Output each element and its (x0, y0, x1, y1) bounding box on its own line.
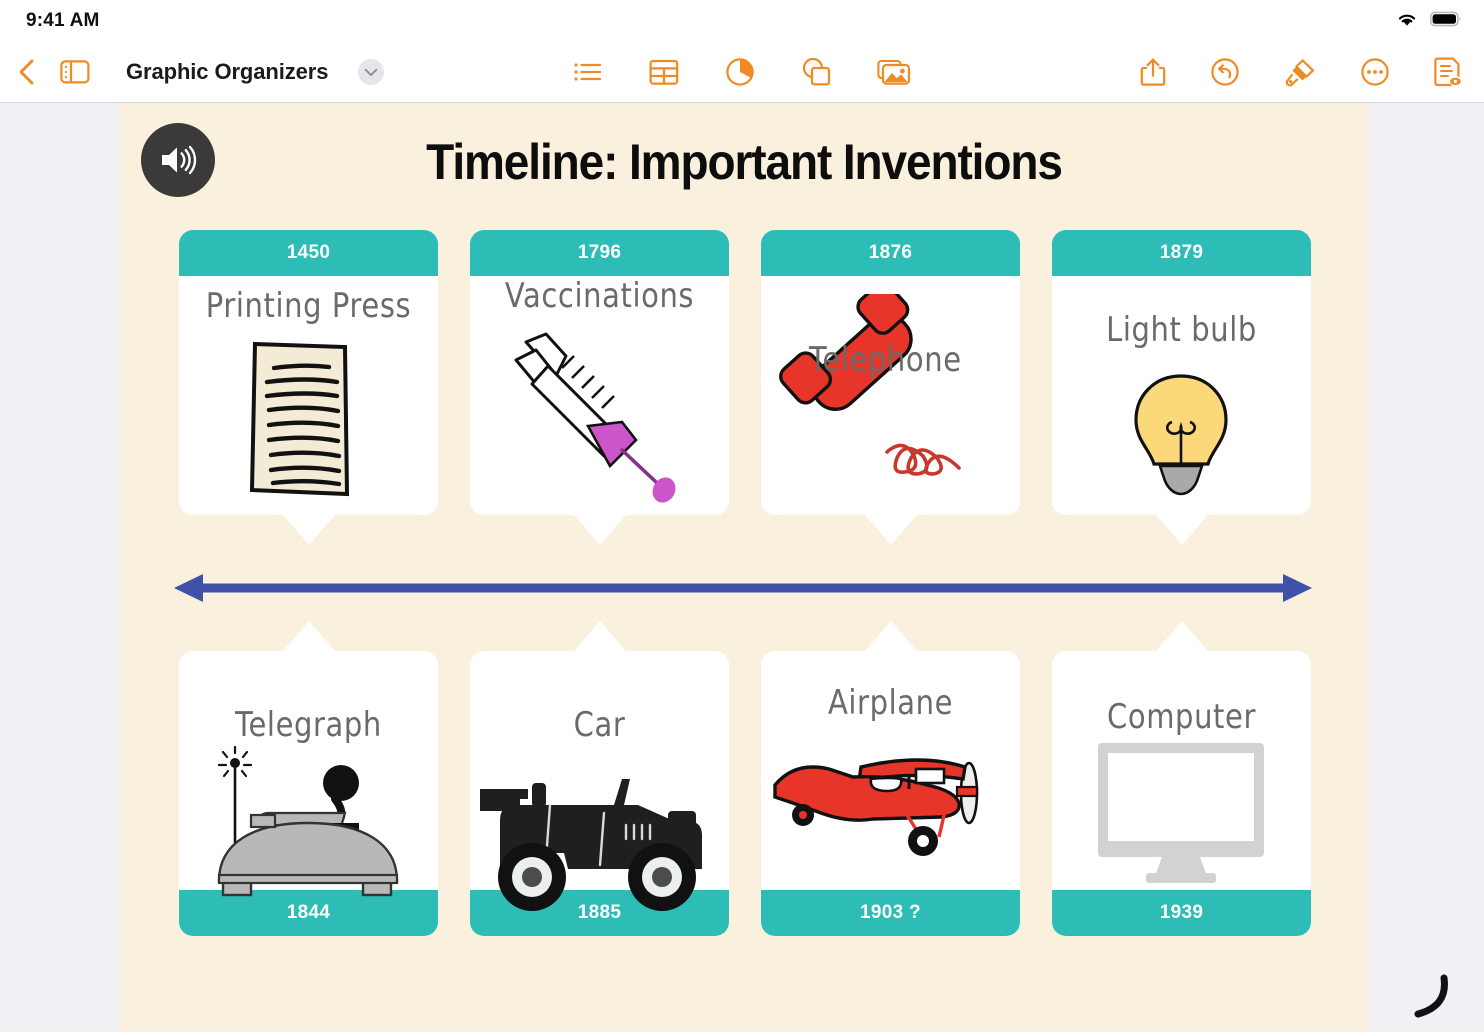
status-indicators (1396, 11, 1462, 32)
insert-table-icon[interactable] (649, 59, 679, 86)
card-year-band: 1796 (470, 230, 729, 276)
wifi-icon (1396, 11, 1418, 32)
chevron-down-icon[interactable] (358, 59, 384, 85)
card-pointer-tail (865, 621, 917, 651)
airplane-illustration (761, 743, 1020, 876)
card-pointer-tail (1156, 621, 1208, 651)
card-pointer-tail (283, 515, 335, 545)
lightbulb-illustration (1052, 370, 1311, 511)
card-pointer-tail (1156, 515, 1208, 545)
insert-chart-icon[interactable] (725, 57, 755, 87)
toolbar-insert-group (573, 57, 911, 87)
card-label: Computer (1052, 696, 1311, 736)
timeline-card-airplane[interactable]: Airplane 1903 ? (761, 651, 1020, 936)
document-canvas[interactable]: Timeline: Important Inventions 1450 Prin… (120, 103, 1368, 1032)
card-pointer-tail (283, 621, 335, 651)
card-label: Car (470, 704, 729, 744)
card-year-band: 1903 ? (761, 890, 1020, 936)
card-year-band: 1939 (1052, 890, 1311, 936)
document-options-icon[interactable] (1434, 56, 1462, 88)
card-label: Printing Press (179, 285, 438, 325)
timeline-card-computer[interactable]: Computer 1939 (1052, 651, 1311, 936)
card-pointer-tail (574, 515, 626, 545)
share-icon[interactable] (1140, 57, 1166, 87)
toolbar-actions-group (1140, 56, 1462, 88)
insert-media-icon[interactable] (877, 58, 911, 86)
insert-list-icon[interactable] (573, 59, 603, 85)
computer-illustration (1052, 739, 1311, 888)
timeline-card-lightbulb[interactable]: 1879 Light bulb (1052, 230, 1311, 515)
card-label: Airplane (761, 682, 1020, 722)
battery-full-icon (1430, 11, 1462, 32)
timeline-card-telegraph[interactable]: Telegraph 1844 (179, 651, 438, 936)
telephone-illustration (761, 294, 1020, 515)
format-brush-icon[interactable] (1284, 57, 1316, 87)
timeline-card-printing-press[interactable]: 1450 Printing Press (179, 230, 438, 515)
card-year-band: 1876 (761, 230, 1020, 276)
telegraph-illustration (179, 743, 438, 912)
status-time: 9:41 AM (26, 10, 100, 32)
board-title: Timeline: Important Inventions (170, 133, 1318, 191)
canvas-area: Timeline: Important Inventions 1450 Prin… (0, 103, 1484, 1032)
app-toolbar: Graphic Organizers (0, 42, 1484, 103)
card-pointer-tail (574, 621, 626, 651)
page-title[interactable]: Graphic Organizers (126, 59, 328, 85)
timeline-card-telephone[interactable]: 1876 Telephone (761, 230, 1020, 515)
sidebar-toggle-icon[interactable] (60, 59, 90, 85)
more-options-icon[interactable] (1360, 57, 1390, 87)
toolbar-left-group: Graphic Organizers (0, 57, 384, 87)
card-year-band: 1879 (1052, 230, 1311, 276)
status-bar: 9:41 AM (0, 0, 1484, 42)
car-illustration (470, 761, 729, 926)
timeline-card-car[interactable]: Car 1885 (470, 651, 729, 936)
card-pointer-tail (865, 515, 917, 545)
card-label: Telephone (809, 339, 962, 379)
timeline-arrow (172, 570, 1314, 606)
syringe-illustration (470, 330, 729, 515)
timeline-card-vaccinations[interactable]: 1796 Vaccinations (470, 230, 729, 515)
printing-press-illustration (179, 338, 438, 513)
cursor-pointer (1400, 972, 1450, 1022)
back-chevron-icon[interactable] (14, 57, 40, 87)
card-year-band: 1450 (179, 230, 438, 276)
card-label: Light bulb (1052, 309, 1311, 349)
undo-icon[interactable] (1210, 57, 1240, 87)
insert-shape-icon[interactable] (801, 57, 831, 87)
card-label: Telegraph (179, 704, 438, 744)
card-label: Vaccinations (470, 275, 729, 315)
